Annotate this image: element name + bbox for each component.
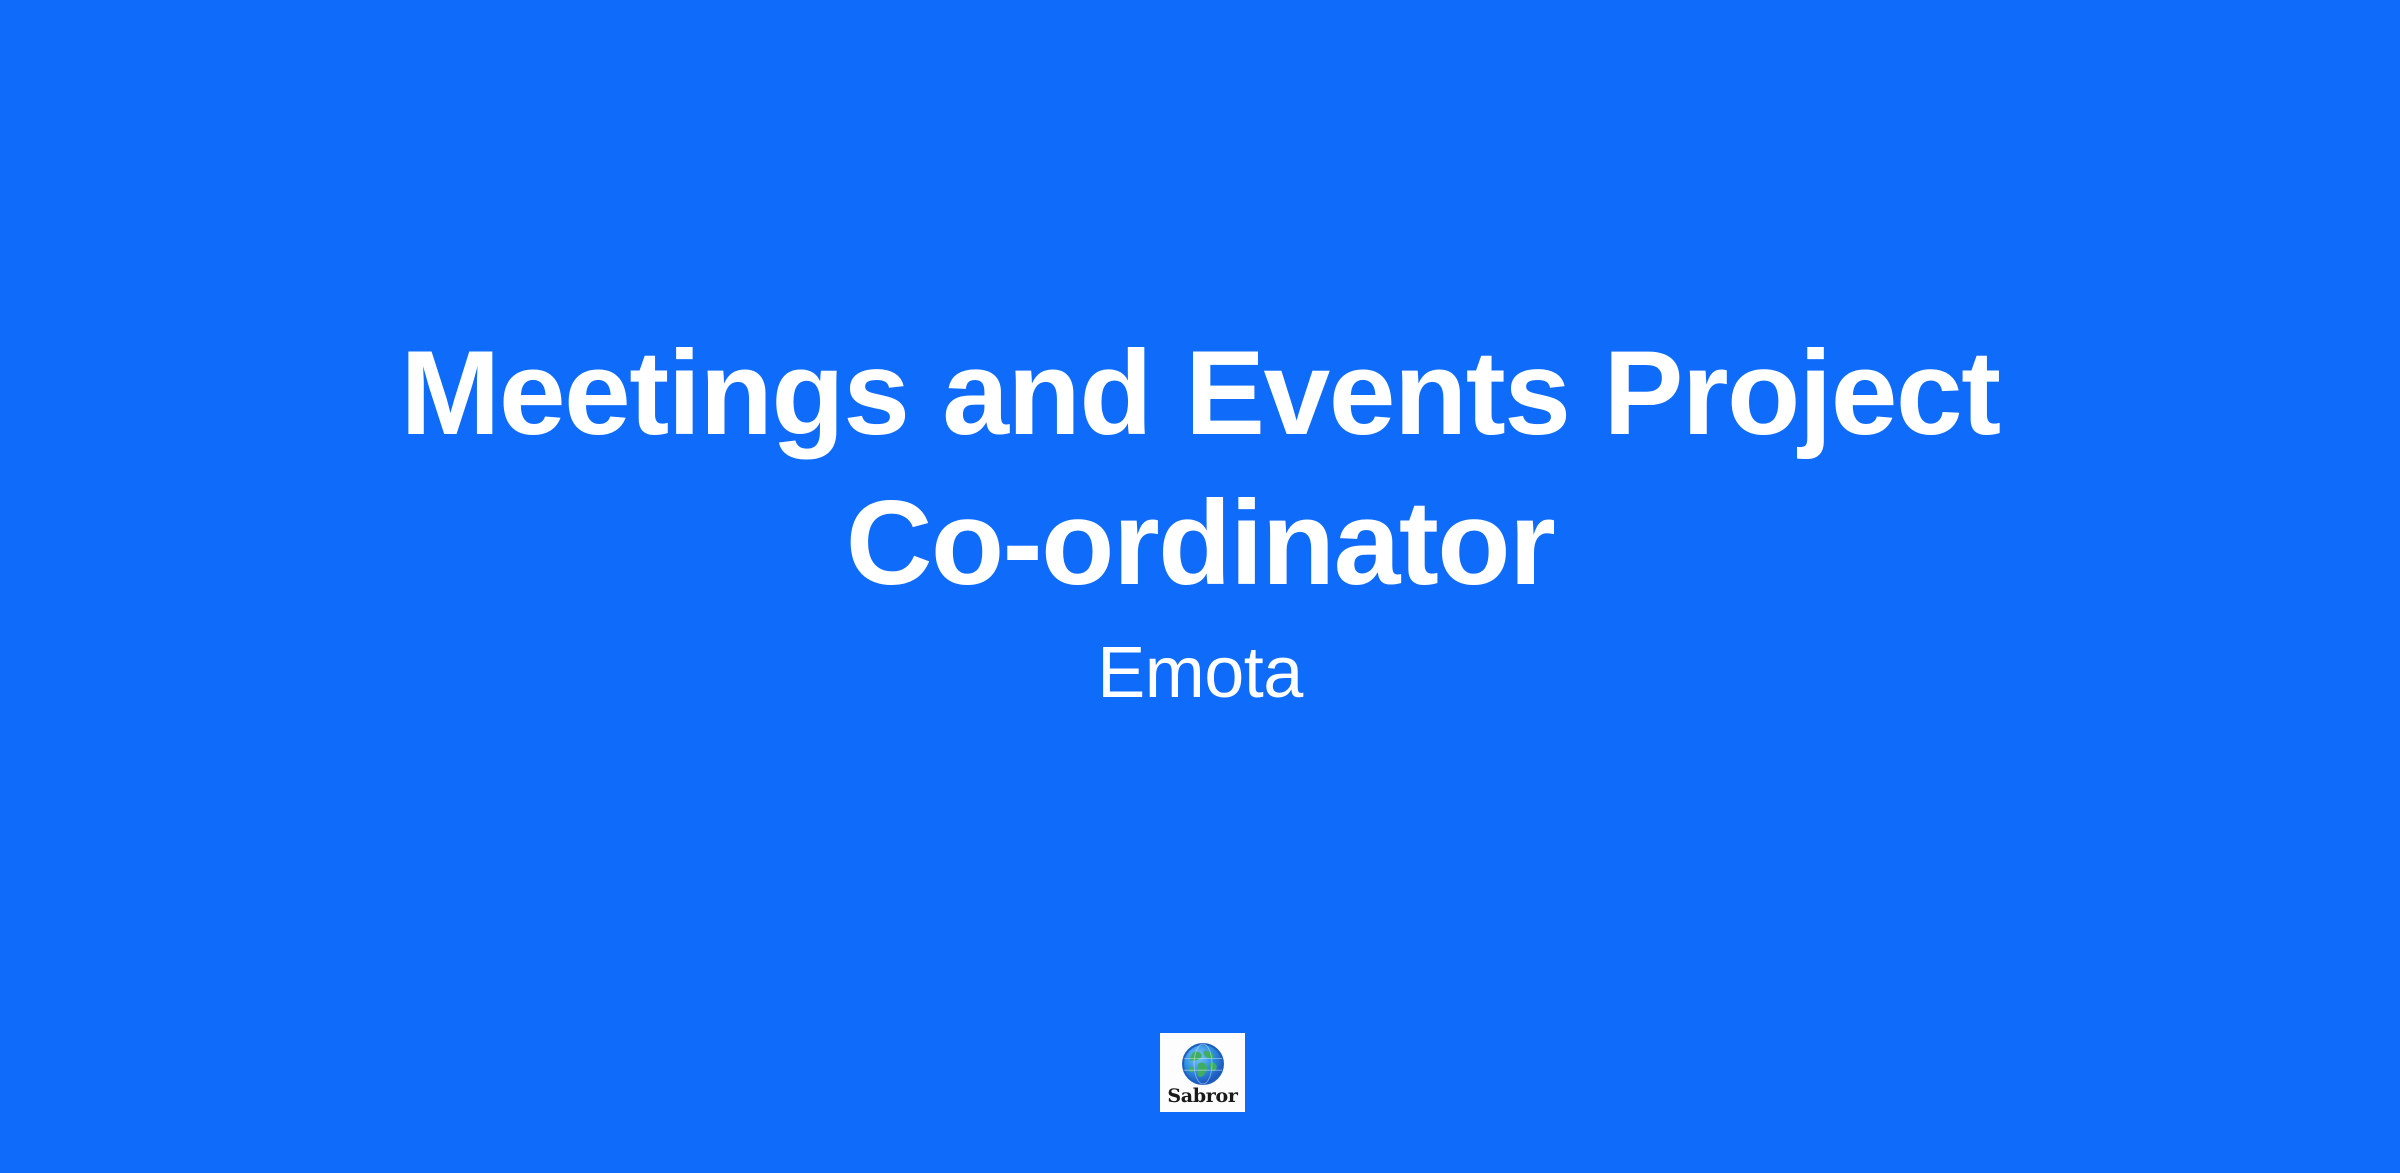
slide-hero-content: Meetings and Events Project Co-ordinator… — [0, 0, 2400, 1173]
globe-icon — [1181, 1042, 1225, 1086]
brand-wordmark: Sabror — [1167, 1087, 1237, 1106]
brand-logo: Sabror — [1160, 1033, 1245, 1112]
title-slide: Meetings and Events Project Co-ordinator… — [0, 0, 2400, 1173]
slide-subtitle: Emota — [1097, 630, 1303, 716]
page-title: Meetings and Events Project Co-ordinator — [380, 318, 2020, 618]
